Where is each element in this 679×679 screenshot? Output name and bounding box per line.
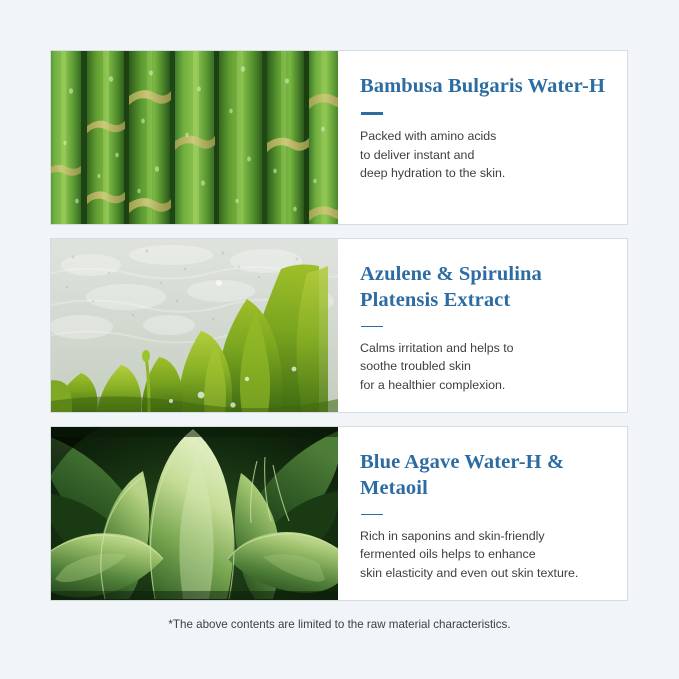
ingredient-description: Rich in saponins and skin-friendly ferme…	[360, 527, 607, 583]
ingredient-card-list: Bambusa Bulgaris Water-H Packed with ami…	[50, 50, 628, 614]
seaweed-photo	[51, 239, 338, 412]
title-divider	[361, 326, 383, 327]
ingredient-infographic: Bambusa Bulgaris Water-H Packed with ami…	[0, 0, 679, 679]
ingredient-title: Azulene & Spirulina Platensis Extract	[360, 261, 607, 313]
agave-plant-photo	[51, 427, 338, 600]
ingredient-card: Azulene & Spirulina Platensis Extract Ca…	[50, 238, 628, 413]
ingredient-card-text: Blue Agave Water-H & Metaoil Rich in sap…	[338, 427, 627, 600]
footnote-disclaimer: *The above contents are limited to the r…	[0, 618, 679, 631]
ingredient-card-text: Bambusa Bulgaris Water-H Packed with ami…	[338, 51, 627, 224]
title-divider	[361, 112, 383, 115]
ingredient-description: Calms irritation and helps to soothe tro…	[360, 339, 607, 395]
ingredient-card: Bambusa Bulgaris Water-H Packed with ami…	[50, 50, 628, 225]
ingredient-description: Packed with amino acids to deliver insta…	[360, 127, 607, 183]
ingredient-title: Bambusa Bulgaris Water-H	[360, 73, 607, 99]
ingredient-card: Blue Agave Water-H & Metaoil Rich in sap…	[50, 426, 628, 601]
title-divider	[361, 514, 383, 515]
bamboo-stalks-photo	[51, 51, 338, 224]
ingredient-card-text: Azulene & Spirulina Platensis Extract Ca…	[338, 239, 627, 412]
ingredient-title: Blue Agave Water-H & Metaoil	[360, 449, 607, 501]
